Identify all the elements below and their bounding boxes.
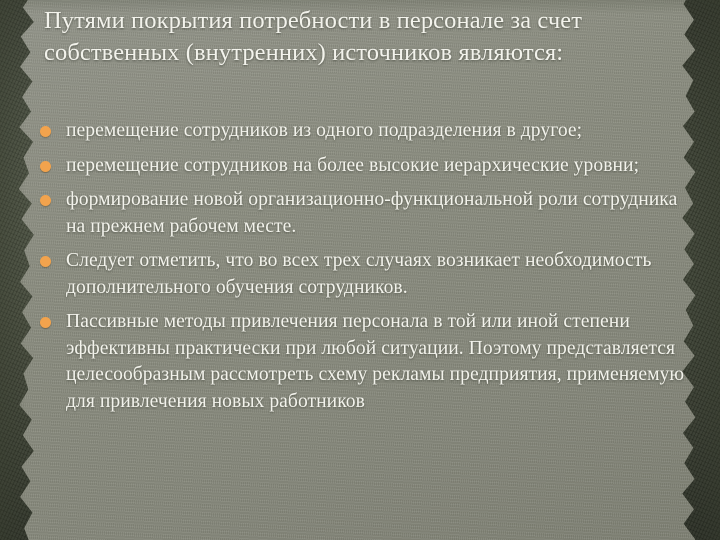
slide-content: Путями покрытия потребности в персонале … <box>0 0 720 540</box>
list-item: Следует отметить, что во всех трех случа… <box>38 248 688 301</box>
orange-dot-bullet-icon <box>40 126 51 137</box>
list-item: формирование новой организационно-функци… <box>38 187 688 240</box>
orange-dot-bullet-icon <box>40 195 51 206</box>
orange-dot-bullet-icon <box>40 317 51 328</box>
list-item: Пассивные методы привлечения персонала в… <box>38 309 688 415</box>
slide-canvas: Путями покрытия потребности в персонале … <box>0 0 720 540</box>
list-item-text: Пассивные методы привлечения персонала в… <box>66 309 688 415</box>
list-item-text: перемещение сотрудников на более высокие… <box>66 153 688 180</box>
orange-dot-bullet-icon <box>40 256 51 267</box>
slide-title: Путями покрытия потребности в персонале … <box>44 5 644 69</box>
list-item: перемещение сотрудников из одного подраз… <box>38 118 688 145</box>
list-item-text: формирование новой организационно-функци… <box>66 187 688 240</box>
bullet-list: перемещение сотрудников из одного подраз… <box>38 118 688 423</box>
list-item-text: Следует отметить, что во всех трех случа… <box>66 248 688 301</box>
list-item: перемещение сотрудников на более высокие… <box>38 153 688 180</box>
list-item-text: перемещение сотрудников из одного подраз… <box>66 118 688 145</box>
orange-dot-bullet-icon <box>40 161 51 172</box>
